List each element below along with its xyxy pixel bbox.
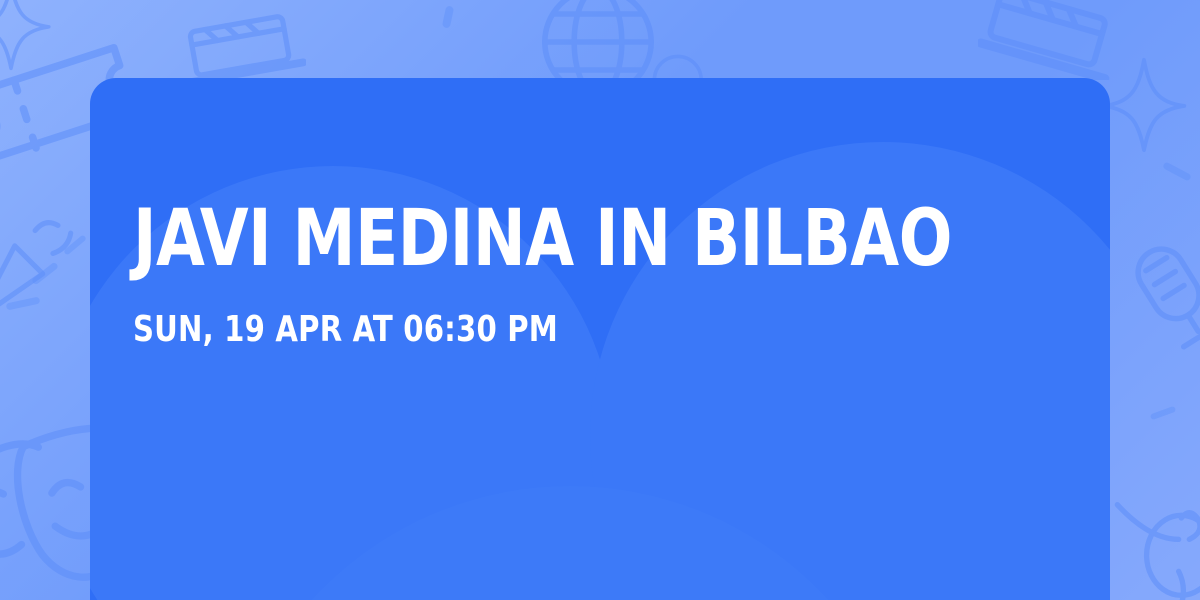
event-card: Javi Medina in Bilbao Sun, 19 Apr at 06:… — [90, 78, 1110, 600]
card-text-block: Javi Medina in Bilbao Sun, 19 Apr at 06:… — [133, 204, 1043, 348]
event-banner: Javi Medina in Bilbao Sun, 19 Apr at 06:… — [0, 0, 1200, 600]
confetti-dash — [63, 234, 87, 255]
event-datetime: Sun, 19 Apr at 06:30 PM — [133, 312, 952, 348]
event-title: Javi Medina in Bilbao — [133, 204, 952, 276]
confetti-dash — [442, 5, 454, 28]
confetti-dash — [1150, 406, 1176, 421]
confetti-dash — [1162, 161, 1192, 181]
film-clapper-icon — [978, 0, 1128, 80]
confetti-dash — [6, 297, 41, 311]
microphone-icon — [1118, 232, 1200, 382]
confetti-dash — [31, 262, 59, 286]
sparkle-icon — [0, 0, 56, 76]
party-popper-icon — [0, 200, 76, 340]
balloon-icon — [1106, 478, 1200, 600]
sparkle-icon — [1096, 52, 1192, 158]
